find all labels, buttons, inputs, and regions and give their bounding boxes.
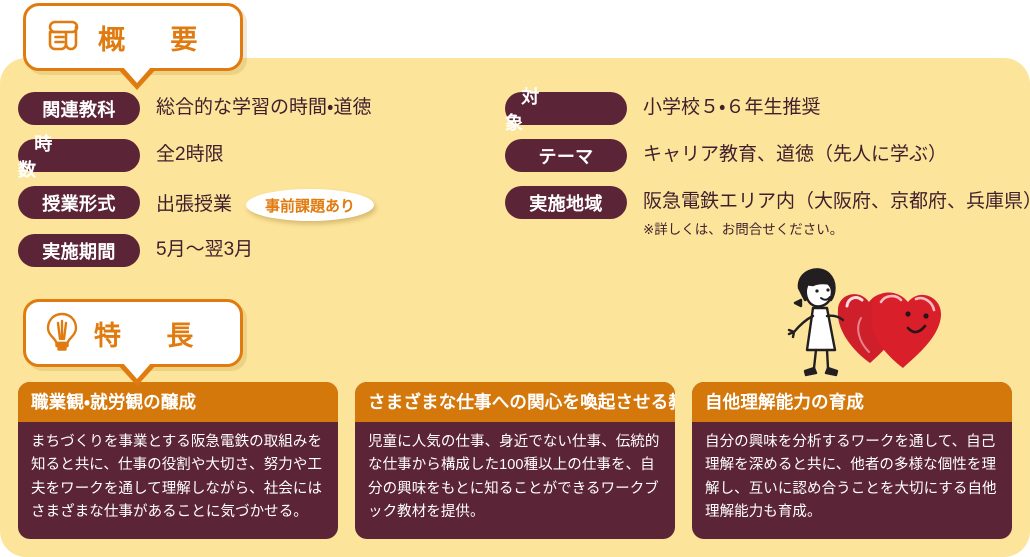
info-value-wrap-hours: 全2時限 [156,139,224,168]
info-label-target: 対 象 [505,92,627,125]
features-section-header: 特 長 [23,299,243,367]
heart-shape [838,292,941,368]
info-label-theme: テーマ [505,139,627,172]
info-value-wrap-period: 5月〜翌3月 [156,234,253,263]
overview-bubble-tail-inner [122,66,152,83]
info-value-wrap-related-subjects: 総合的な学習の時間・道徳 [156,92,371,121]
info-row-target: 対 象 小学校５・６年生推奨 [505,92,1020,126]
feature-card: さまざまな仕事への関心を喚起させる教材 児童に人気の仕事、身近でない仕事、伝統的… [355,382,675,539]
scroll-icon [42,13,86,62]
info-value-theme: キャリア教育、道徳（先人に学ぶ） [643,142,947,168]
info-value-wrap-class-format: 出張授業 事前課題あり [156,186,374,221]
info-value-hours: 全2時限 [156,142,224,168]
feature-card: 自他理解能力の育成 自分の興味を分析するワークを通して、自己理解を深めると共に、… [692,382,1012,539]
info-label-hours: 時 数 [18,139,140,172]
prior-assignment-badge: 事前課題あり [246,189,374,221]
info-value-wrap-target: 小学校５・６年生推奨 [643,92,820,121]
info-row-related-subjects: 関連教科 総合的な学習の時間・道徳 [18,92,488,126]
info-label-area: 実施地域 [505,186,627,219]
info-value-period: 5月〜翌3月 [156,237,253,263]
info-label-class-format: 授業形式 [18,186,140,219]
info-value-target: 小学校５・６年生推奨 [643,95,820,121]
feature-card-body: 自分の興味を分析するワークを通して、自己理解を深めると共に、他者の多様な個性を理… [692,422,1012,537]
feature-card-header: さまざまな仕事への関心を喚起させる教材 [355,382,675,422]
info-value-wrap-area: 阪急電鉄エリア内（大阪府、京都府、兵庫県） ※詳しくは、お問合せください。 [643,186,1030,238]
girl-holding-heart-illustration [775,258,955,378]
overview-section-title: 概 要 [92,18,207,57]
info-value-related-subjects: 総合的な学習の時間・道徳 [156,95,371,121]
info-row-class-format: 授業形式 出張授業 事前課題あり [18,186,488,221]
info-value-class-format: 出張授業 [156,192,232,218]
girl-figure [789,269,843,375]
overview-right-column: 対 象 小学校５・６年生推奨 テーマ キャリア教育、道徳（先人に学ぶ） 実施地域… [505,92,1020,251]
overview-left-column: 関連教科 総合的な学習の時間・道徳 時 数 全2時限 授業形式 出張授業 事前課… [18,92,488,281]
info-label-related-subjects: 関連教科 [18,92,140,125]
feature-card-body: まちづくりを事業とする阪急電鉄の取組みを知ると共に、仕事の役割や大切さ、努力や工… [18,422,338,537]
info-row-theme: テーマ キャリア教育、道徳（先人に学ぶ） [505,139,1020,173]
feature-cards-row: 職業観・就労観の醸成 まちづくりを事業とする阪急電鉄の取組みを知ると共に、仕事の… [18,382,1012,539]
feature-card-header: 職業観・就労観の醸成 [18,382,338,422]
info-note-area: ※詳しくは、お問合せください。 [643,218,1030,238]
info-row-period: 実施期間 5月〜翌3月 [18,234,488,268]
info-row-hours: 時 数 全2時限 [18,139,488,173]
feature-card-header: 自他理解能力の育成 [692,382,1012,422]
feature-card: 職業観・就労観の醸成 まちづくりを事業とする阪急電鉄の取組みを知ると共に、仕事の… [18,382,338,539]
overview-section-header: 概 要 [23,3,243,71]
info-value-area: 阪急電鉄エリア内（大阪府、京都府、兵庫県） [643,189,1030,215]
features-bubble-tail-inner [122,362,152,379]
feature-card-body: 児童に人気の仕事、身近でない仕事、伝統的な仕事から構成した100種以上の仕事を、… [355,422,675,537]
lightbulb-icon [42,309,82,358]
features-section-title: 特 長 [88,314,203,353]
info-value-wrap-theme: キャリア教育、道徳（先人に学ぶ） [643,139,947,168]
info-row-area: 実施地域 阪急電鉄エリア内（大阪府、京都府、兵庫県） ※詳しくは、お問合せくださ… [505,186,1020,238]
info-label-period: 実施期間 [18,234,140,267]
